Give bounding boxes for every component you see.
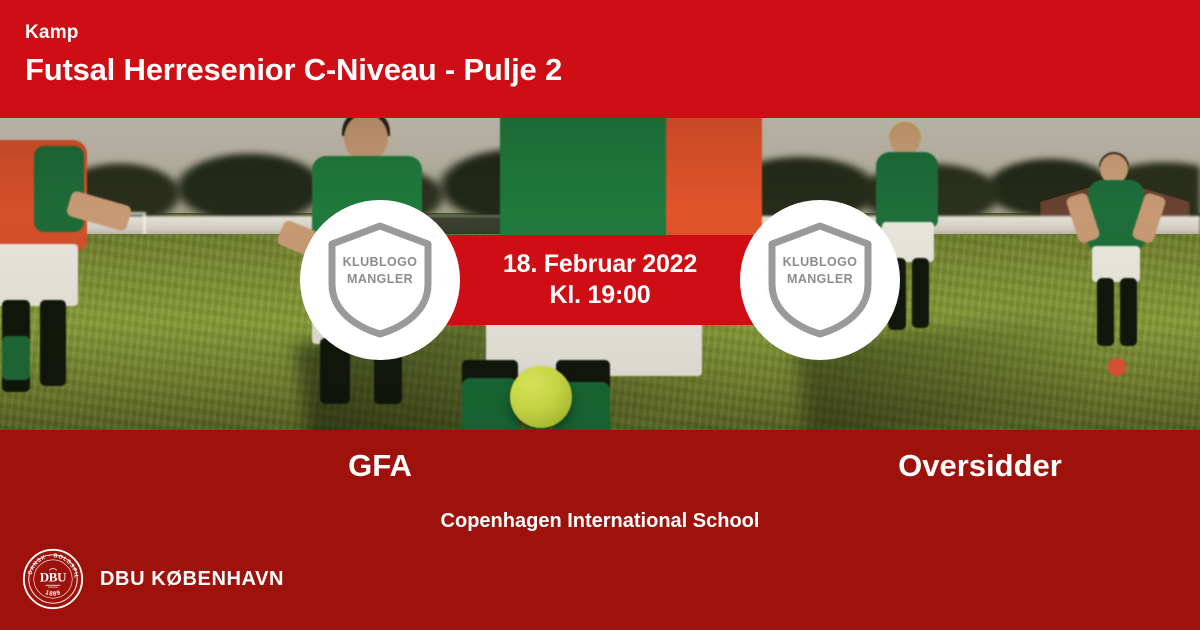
away-club-logo[interactable]: KLUBLOGO MANGLER bbox=[740, 200, 900, 360]
home-logo-placeholder-text: KLUBLOGO MANGLER bbox=[328, 254, 432, 288]
away-logo-placeholder-text: KLUBLOGO MANGLER bbox=[768, 254, 872, 288]
poster-header: Kamp Futsal Herresenior C-Niveau - Pulje… bbox=[0, 0, 1200, 118]
away-logo-line2: MANGLER bbox=[768, 271, 872, 288]
svg-text:DBU: DBU bbox=[40, 569, 67, 584]
dbu-seal-icon: DANSK · BOLDSPIL · UNION 1889 DBU bbox=[22, 548, 84, 610]
match-poster: Kamp Futsal Herresenior C-Niveau - Pulje… bbox=[0, 0, 1200, 630]
svg-text:1889: 1889 bbox=[44, 589, 62, 598]
brand-lockup: DANSK · BOLDSPIL · UNION 1889 DBU DBU KØ… bbox=[22, 548, 284, 610]
brand-name: DBU KØBENHAVN bbox=[100, 568, 284, 591]
teams-row: GFA Oversidder bbox=[0, 446, 1200, 486]
page-title: Futsal Herresenior C-Niveau - Pulje 2 bbox=[25, 50, 1200, 90]
away-logo-line1: KLUBLOGO bbox=[768, 254, 872, 271]
venue-name: Copenhagen International School bbox=[0, 508, 1200, 534]
home-logo-line1: KLUBLOGO bbox=[328, 254, 432, 271]
away-team-wrap: Oversidder bbox=[760, 446, 1200, 486]
home-team-name: GFA bbox=[0, 446, 760, 486]
match-datetime-bar: 18. Februar 2022 Kl. 19:00 bbox=[445, 235, 755, 325]
match-time: Kl. 19:00 bbox=[549, 280, 650, 311]
header-kicker: Kamp bbox=[25, 22, 1200, 44]
shield-icon: KLUBLOGO MANGLER bbox=[768, 222, 872, 338]
shield-icon: KLUBLOGO MANGLER bbox=[328, 222, 432, 338]
home-logo-line2: MANGLER bbox=[328, 271, 432, 288]
home-club-logo[interactable]: KLUBLOGO MANGLER bbox=[300, 200, 460, 360]
away-team-name: Oversidder bbox=[760, 446, 1200, 486]
match-date: 18. Februar 2022 bbox=[503, 249, 697, 280]
